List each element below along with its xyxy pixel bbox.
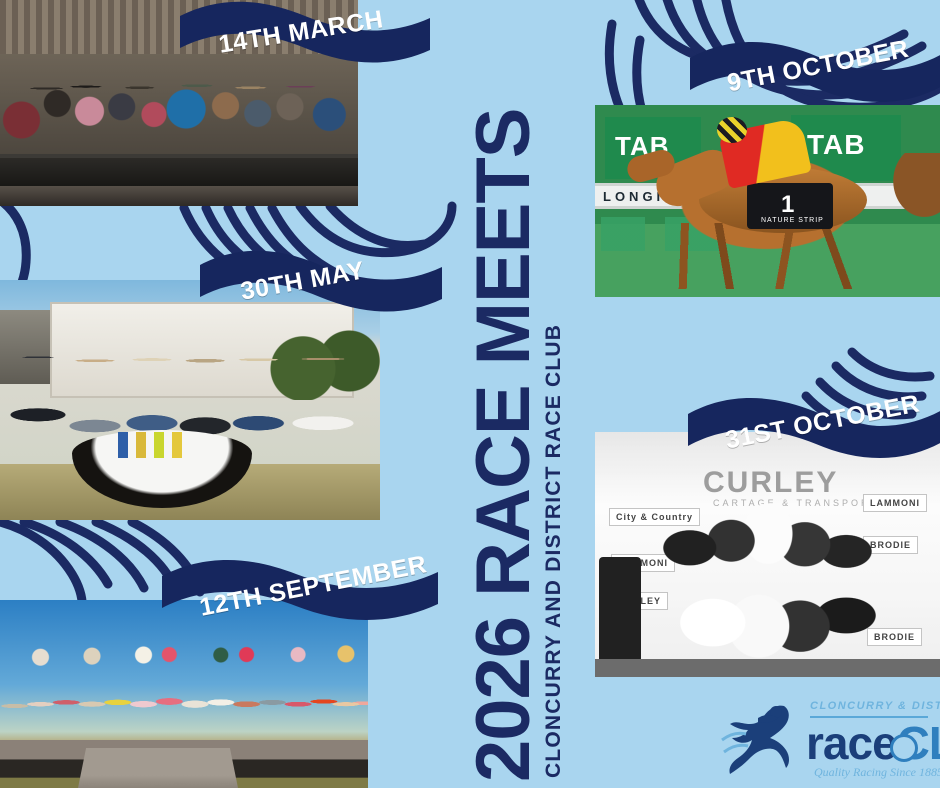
horse-legs <box>665 223 865 289</box>
logo-wordmark: raceCLUB <box>806 716 940 770</box>
race-meets-poster: TAB TAB LONGINES LONGINES 1 NATURE STRIP… <box>0 0 940 788</box>
photo-ladies-group-bw: CURLEY CARTAGE & TRANSPORT City & Countr… <box>595 432 940 677</box>
jockey-on-horse-icon <box>714 694 806 778</box>
logo-o-circle <box>890 734 918 762</box>
jockey-helmet <box>717 117 747 143</box>
crowd-hats <box>0 68 358 102</box>
photo-men-at-table <box>0 280 380 520</box>
grass <box>595 659 940 677</box>
runway <box>78 748 238 788</box>
fashion-contestants <box>0 652 368 742</box>
date-ribbon-30th-may: 30TH MAY <box>200 243 442 315</box>
saddlecloth-number: 1 <box>781 191 794 219</box>
pa-speaker <box>599 557 641 667</box>
logo-tagline: Quality Racing Since 1885 <box>814 765 940 780</box>
date-ribbon-31st-october: 31ST OCTOBER <box>688 382 940 462</box>
page-subtitle: CLONCURRY AND DISTRICT RACE CLUB <box>542 324 566 778</box>
drink-cans <box>118 432 210 458</box>
second-horse <box>888 153 940 223</box>
floor <box>0 186 358 206</box>
backdrop-main-sponsor: CURLEY <box>703 466 838 500</box>
group-of-women <box>653 498 883 676</box>
photo-racehorse-finish: TAB TAB LONGINES LONGINES 1 NATURE STRIP <box>595 105 940 297</box>
logo-top-line: CLONCURRY & DISTRICT <box>810 700 940 712</box>
logo-word-race: race <box>806 717 897 769</box>
page-title: 2026 RACE MEETS <box>468 109 539 782</box>
horse-name-label: NATURE STRIP <box>761 217 824 224</box>
cowboy-hats <box>0 342 380 376</box>
photo-fashions-on-the-field <box>0 600 368 788</box>
race-club-logo: CLONCURRY & DISTRICT raceCLUB Quality Ra… <box>714 690 932 782</box>
date-ribbon-14th-march: 14TH MARCH <box>180 0 430 68</box>
date-ribbon-12th-september: 12TH SEPTEMBER <box>162 548 438 624</box>
bar-counter <box>0 154 358 188</box>
date-ribbon-9th-october: 9TH OCTOBER <box>690 28 940 104</box>
poster-headline: 2026 RACE MEETS CLONCURRY AND DISTRICT R… <box>452 0 582 788</box>
